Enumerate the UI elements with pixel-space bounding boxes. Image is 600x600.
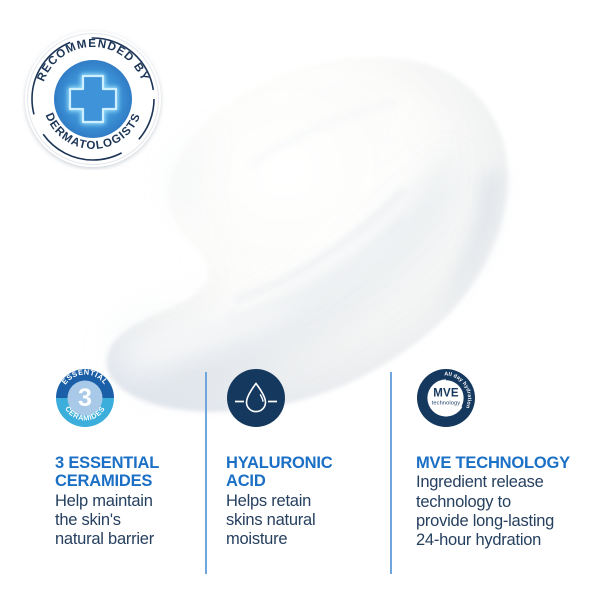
feature-icon-wrapper bbox=[226, 368, 286, 428]
ceramides-number: 3 bbox=[78, 384, 92, 412]
feature-body: Helps retain skins natural moisture bbox=[226, 492, 398, 549]
feature-title: 3 ESSENTIAL CERAMIDES bbox=[55, 454, 227, 491]
feature-icon-wrapper: All day hydration MVE technology bbox=[416, 368, 476, 428]
feature-title: HYALURONIC ACID bbox=[226, 454, 398, 491]
droplet-circle-bg bbox=[227, 369, 285, 427]
feature-body: Ingredient release technology to provide… bbox=[416, 473, 596, 550]
feature-body: Help maintain the skin's natural barrier bbox=[55, 492, 227, 549]
mve-sublabel: technology bbox=[432, 401, 461, 407]
mve-label: MVE bbox=[433, 388, 459, 400]
feature-essential-ceramides: 3 ESSENTIAL CERAMIDES 3 ESSENTIAL CERAMI… bbox=[55, 368, 227, 549]
3-essential-ceramides-badge-icon: 3 ESSENTIAL CERAMIDES bbox=[55, 368, 115, 428]
feature-title: MVE TECHNOLOGY bbox=[416, 454, 596, 472]
feature-mve-technology: All day hydration MVE technology MVE TEC… bbox=[416, 368, 596, 550]
feature-icon-wrapper: 3 ESSENTIAL CERAMIDES bbox=[55, 368, 115, 428]
feature-hyaluronic-acid: HYALURONIC ACID Helps retain skins natur… bbox=[226, 368, 398, 549]
recommended-by-dermatologists-seal: RECOMMENDED BY DERMATOLOGISTS bbox=[22, 28, 164, 170]
mve-technology-badge-icon: All day hydration MVE technology bbox=[416, 368, 476, 428]
feature-columns: 3 ESSENTIAL CERAMIDES 3 ESSENTIAL CERAMI… bbox=[0, 368, 600, 583]
water-droplet-icon bbox=[226, 368, 286, 428]
product-benefits-graphic: RECOMMENDED BY DERMATOLOGISTS bbox=[0, 0, 600, 600]
